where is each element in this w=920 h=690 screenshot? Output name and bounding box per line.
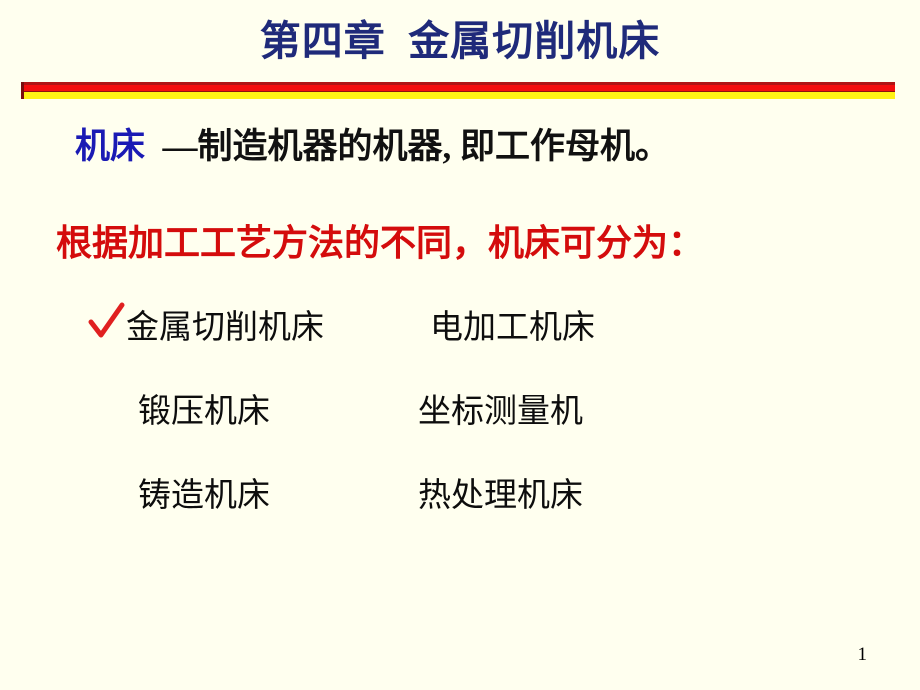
definition-body: —制造机器的机器, 即工作母机。 [145,127,670,166]
list-item: 锻压机床 坐标测量机 [88,384,788,468]
page-number: 1 [858,644,868,666]
machine-type-label: 坐标测量机 [418,384,583,432]
classification-heading: 根据加工工艺方法的不同，机床可分为： [56,214,704,266]
slide-canvas: 第四章 金属切削机床 机床 —制造机器的机器, 即工作母机。 根据加工工艺方法的… [0,0,920,690]
slide-title-block: 第四章 金属切削机床 [0,18,920,65]
list-item: 铸造机床 热处理机床 [88,468,788,552]
definition-line: 机床 —制造机器的机器, 即工作母机。 [75,126,670,168]
title-divider-bar [21,82,895,99]
definition-term: 机床 [75,127,145,166]
machine-type-label: 电加工机床 [430,300,595,348]
machine-type-label: 铸造机床 [138,468,270,516]
page-title: 第四章 金属切削机床 [260,18,661,65]
machine-type-label: 热处理机床 [418,468,583,516]
divider-band-yellow [21,92,895,99]
divider-endcap [21,82,24,99]
check-mark-icon [88,302,126,344]
machine-type-label: 金属切削机床 [126,300,324,348]
machine-type-list: 金属切削机床 电加工机床 锻压机床 坐标测量机 铸造机床 热处理机床 [88,300,788,552]
machine-type-label: 锻压机床 [138,384,270,432]
list-item: 金属切削机床 电加工机床 [88,300,788,384]
